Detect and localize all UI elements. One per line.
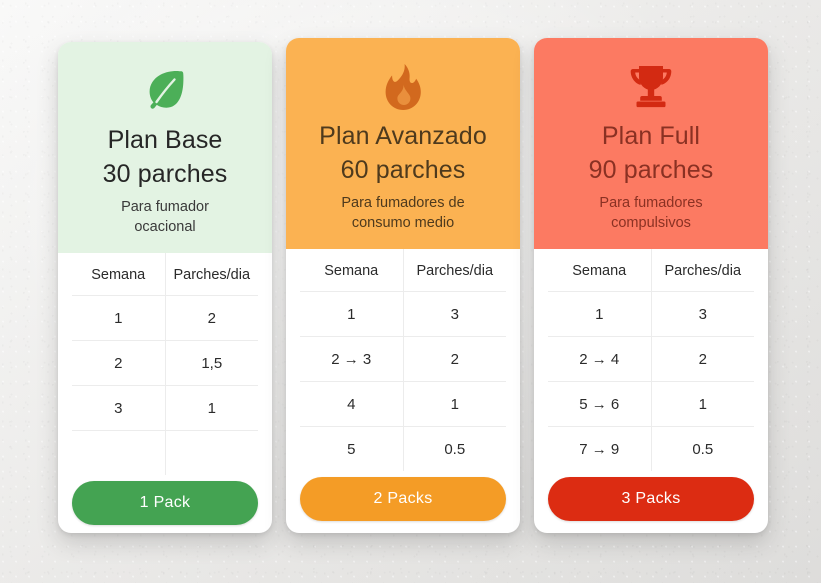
card-header-plan-avanzado: Plan Avanzado 60 parches Para fumadores … (286, 38, 520, 249)
column-header-parches: Parches/dia (651, 249, 754, 292)
cell-parches: 1 (165, 386, 258, 431)
cell-semana: 2 → 4 (548, 337, 651, 382)
plan-title: Plan Base (58, 125, 272, 156)
cell-semana: 1 (72, 296, 165, 341)
cell-parches: 1 (651, 382, 754, 427)
cell-semana: 5 → 6 (548, 382, 651, 427)
table-row: 5 → 6 1 (548, 382, 754, 427)
plan-description-line-2: consumo medio (286, 213, 520, 233)
cell-semana: 3 (72, 386, 165, 431)
schedule-table: Semana Parches/dia 1 3 2 → 3 2 4 (300, 249, 506, 471)
buy-button-1-pack[interactable]: 1 Pack (72, 481, 258, 525)
plan-amount: 30 parches (58, 159, 272, 190)
cell-parches (165, 431, 258, 476)
table-row: 5 0.5 (300, 427, 506, 472)
flame-icon (286, 59, 520, 115)
cta-zone: 3 Packs (548, 471, 754, 533)
card-body-plan-base: Semana Parches/dia 1 2 2 1,5 3 1 (58, 253, 272, 533)
table-row: 2 1,5 (72, 341, 258, 386)
column-header-semana: Semana (72, 253, 165, 296)
cell-semana: 4 (300, 382, 403, 427)
cell-semana (72, 431, 165, 476)
table-row: 1 3 (548, 292, 754, 337)
pricing-cards-container: Plan Base 30 parches Para fumador ocacio… (0, 0, 821, 583)
cell-parches: 1 (403, 382, 506, 427)
cell-semana: 1 (300, 292, 403, 337)
cell-semana: 7 → 9 (548, 427, 651, 472)
plan-amount: 90 parches (534, 155, 768, 186)
pricing-card-plan-base[interactable]: Plan Base 30 parches Para fumador ocacio… (58, 42, 272, 533)
cell-parches: 2 (165, 296, 258, 341)
card-body-plan-full: Semana Parches/dia 1 3 2 → 4 2 5 → 6 (534, 249, 768, 533)
card-body-plan-avanzado: Semana Parches/dia 1 3 2 → 3 2 4 (286, 249, 520, 533)
cell-semana: 1 (548, 292, 651, 337)
plan-title: Plan Full (534, 121, 768, 152)
cell-parches: 0.5 (651, 427, 754, 472)
plan-description-line-1: Para fumador (58, 197, 272, 217)
column-header-parches: Parches/dia (165, 253, 258, 296)
plan-title: Plan Avanzado (286, 121, 520, 152)
table-row: 2 → 3 2 (300, 337, 506, 382)
cta-zone: 2 Packs (300, 471, 506, 533)
card-header-plan-full: Plan Full 90 parches Para fumadores comp… (534, 38, 768, 249)
plan-description-line-2: ocacional (58, 217, 272, 237)
cta-zone: 1 Pack (72, 475, 258, 533)
pricing-card-plan-avanzado[interactable]: Plan Avanzado 60 parches Para fumadores … (286, 38, 520, 533)
card-header-plan-base: Plan Base 30 parches Para fumador ocacio… (58, 42, 272, 253)
table-row: 1 3 (300, 292, 506, 337)
leaf-icon (58, 63, 272, 119)
plan-description-line-2: compulsivos (534, 213, 768, 233)
schedule-table: Semana Parches/dia 1 2 2 1,5 3 1 (72, 253, 258, 475)
cell-semana: 2 (72, 341, 165, 386)
table-header-row: Semana Parches/dia (300, 249, 506, 292)
cell-semana: 5 (300, 427, 403, 472)
cell-semana: 2 → 3 (300, 337, 403, 382)
plan-description-line-1: Para fumadores (534, 193, 768, 213)
table-header-row: Semana Parches/dia (548, 249, 754, 292)
trophy-icon (534, 59, 768, 115)
buy-button-2-packs[interactable]: 2 Packs (300, 477, 506, 521)
table-row: 1 2 (72, 296, 258, 341)
plan-description-line-1: Para fumadores de (286, 193, 520, 213)
table-row-empty (72, 431, 258, 476)
column-header-semana: Semana (300, 249, 403, 292)
cell-parches: 2 (651, 337, 754, 382)
table-row: 7 → 9 0.5 (548, 427, 754, 472)
pricing-card-plan-full[interactable]: Plan Full 90 parches Para fumadores comp… (534, 38, 768, 533)
cell-parches: 3 (651, 292, 754, 337)
column-header-semana: Semana (548, 249, 651, 292)
table-row: 2 → 4 2 (548, 337, 754, 382)
column-header-parches: Parches/dia (403, 249, 506, 292)
buy-button-3-packs[interactable]: 3 Packs (548, 477, 754, 521)
cell-parches: 0.5 (403, 427, 506, 472)
schedule-table: Semana Parches/dia 1 3 2 → 4 2 5 → 6 (548, 249, 754, 471)
plan-amount: 60 parches (286, 155, 520, 186)
cell-parches: 3 (403, 292, 506, 337)
cell-parches: 1,5 (165, 341, 258, 386)
table-row: 3 1 (72, 386, 258, 431)
cell-parches: 2 (403, 337, 506, 382)
table-header-row: Semana Parches/dia (72, 253, 258, 296)
table-row: 4 1 (300, 382, 506, 427)
